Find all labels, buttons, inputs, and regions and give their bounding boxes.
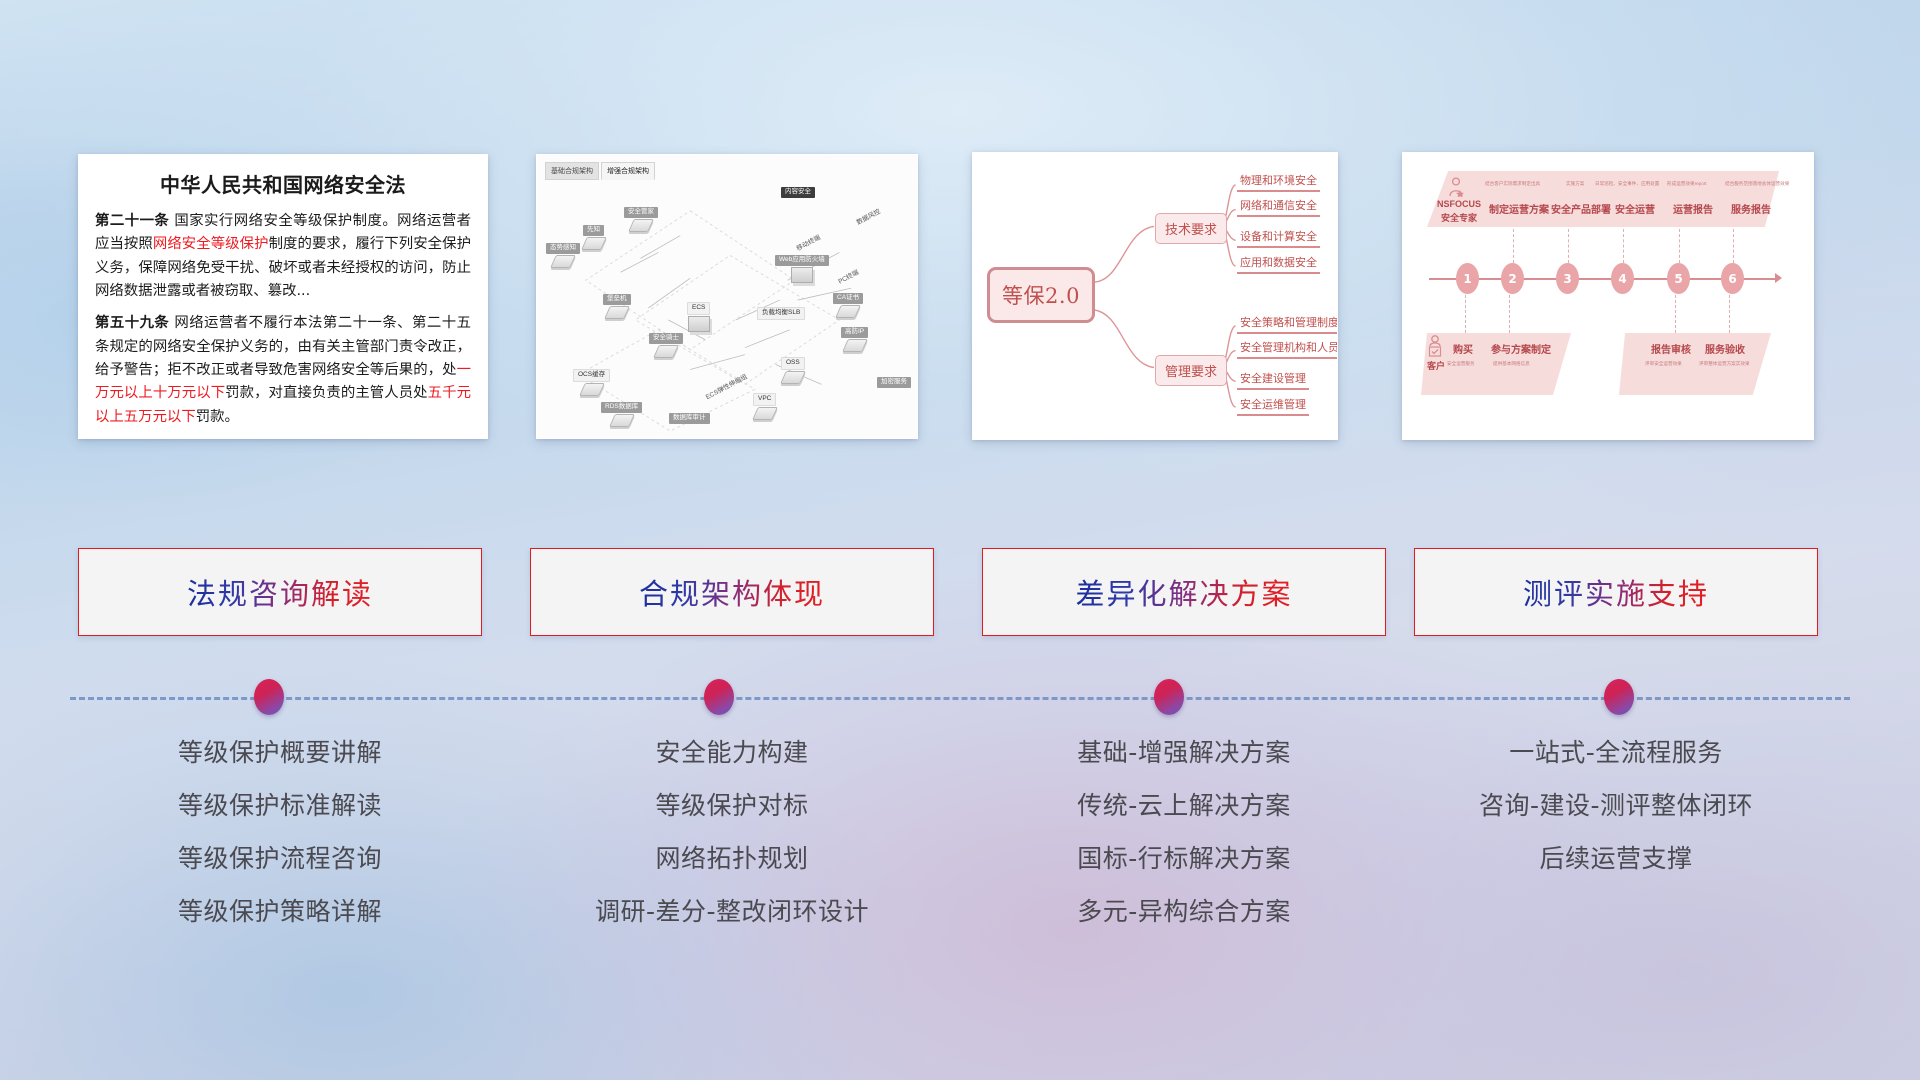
disk-icon [842, 339, 868, 352]
arch-node-label: OSS [781, 357, 805, 370]
arch-node-label: CA证书 [833, 293, 863, 304]
flow-top-sub: 实施方案 [1566, 181, 1584, 187]
list-item: 等级保护标准解读 [78, 793, 482, 818]
arch-node-ecs: ECS [687, 302, 710, 332]
flow-dash-connector [1623, 229, 1624, 263]
flow-top-sub: 形成运营效果report [1667, 181, 1707, 187]
mindmap-card: 等保2.0 技术要求 管理要求 物理和环境安全 网络和通信安全 设备和计算安全 … [972, 152, 1338, 440]
list-item: 基础-增强解决方案 [982, 740, 1386, 765]
article-21-label: 第二十一条 [95, 213, 169, 229]
article-21-highlight: 网络安全等级保护 [153, 236, 269, 252]
flow-top-title: 运营报告 [1673, 201, 1713, 216]
bullet-column-4: 一站式-全流程服务 咨询-建设-测评整体闭环 后续运营支撑 [1414, 740, 1818, 899]
section-header-2[interactable]: 合规架构体现 [530, 548, 934, 636]
arch-node-xianzhi: 先知 [583, 225, 604, 250]
flow-dash-connector [1509, 295, 1510, 333]
flow-step-number: 5 [1667, 263, 1690, 294]
disk-icon [835, 305, 861, 318]
flow-dash-connector [1568, 229, 1569, 263]
article-59-text-c: 罚款。 [196, 409, 239, 425]
section-header-3-label: 差异化解决方案 [1075, 571, 1292, 613]
list-item: 等级保护流程咨询 [78, 846, 482, 871]
flow-bottom-title: 参与方案制定 [1491, 341, 1551, 356]
arch-node-oss: OSS [781, 357, 805, 384]
arch-node-label: 堡垒机 [603, 294, 631, 305]
arch-node-rds-database: RDS数据库 [601, 402, 642, 427]
flow-step-number: 6 [1721, 263, 1744, 294]
arch-node-bastion-host: 堡垒机 [603, 294, 631, 319]
law-card-title: 中华人民共和国网络安全法 [95, 169, 471, 198]
disk-icon [752, 407, 778, 420]
mindmap-leaf: 安全策略和管理制度 [1237, 317, 1338, 334]
law-article-59: 第五十九条 网络运营者不履行本法第二十一条、第二十五条规定的网络安全保护义务的，… [95, 312, 471, 429]
arch-node-label: 加密服务 [877, 377, 911, 388]
list-item: 传统-云上解决方案 [982, 793, 1386, 818]
law-text-card: 中华人民共和国网络安全法 第二十一条 国家实行网络安全等级保护制度。网络运营者应… [78, 154, 488, 439]
arch-node-label: 负载均衡SLB [757, 307, 805, 320]
article-59-text-b: 罚款，对直接负责的主管人员处 [225, 385, 427, 401]
flow-dash-connector [1679, 229, 1680, 263]
timeline-dot-4 [1604, 679, 1634, 715]
disk-icon [581, 237, 607, 250]
section-header-1[interactable]: 法规咨询解读 [78, 548, 482, 636]
flow-axis-arrow-icon [1775, 273, 1782, 283]
arch-node-security-knight: 安全骑士 [649, 333, 683, 358]
server-icon [791, 267, 813, 283]
mindmap-leaf: 设备和计算安全 [1237, 231, 1320, 248]
list-item: 后续运营支撑 [1414, 846, 1818, 871]
flow-dash-connector [1729, 295, 1730, 333]
article-59-label: 第五十九条 [95, 315, 169, 331]
bullet-column-1: 等级保护概要讲解 等级保护标准解读 等级保护流程咨询 等级保护策略详解 [78, 740, 482, 952]
bullet-column-2: 安全能力构建 等级保护对标 网络拓扑规划 调研-差分-整改闭环设计 [530, 740, 934, 952]
list-item: 安全能力构建 [530, 740, 934, 765]
section-header-2-label: 合规架构体现 [639, 571, 825, 613]
flow-bottom-sub: 评审安全运营效果 [1645, 361, 1682, 367]
arch-node-label: VPC [753, 393, 776, 406]
arch-tab-enhanced[interactable]: 增强合规架构 [601, 162, 655, 180]
flow-bottom-title: 购买 [1453, 341, 1473, 356]
flow-step-number: 4 [1611, 263, 1634, 294]
flow-dash-connector [1465, 295, 1466, 333]
flow-canvas: NSFOCUS 安全专家 结合客户实际需求制定出具 制定运营方案 实施方案 安全… [1403, 153, 1813, 439]
flow-actor-top-line2: 安全专家 [1441, 211, 1477, 224]
flow-actor-top-line1: NSFOCUS [1437, 199, 1481, 209]
arch-tab-strip: 基础合规架构 增强合规架构 [545, 162, 655, 180]
section-header-1-label: 法规咨询解读 [187, 571, 373, 613]
arch-node-label: 内容安全 [781, 187, 815, 198]
arch-node-label: ECS [687, 302, 710, 315]
mindmap-leaf: 安全管理机构和人员 [1237, 342, 1338, 359]
timeline-dot-2 [704, 679, 734, 715]
timeline-dashed-line [70, 697, 1850, 700]
arch-node-label: 高防IP [841, 327, 868, 338]
arch-tab-basic[interactable]: 基础合规架构 [545, 162, 599, 180]
list-item: 一站式-全流程服务 [1414, 740, 1818, 765]
mindmap-leaf: 安全运维管理 [1237, 399, 1309, 416]
flow-top-sub: 结合客户实际需求制定出具 [1485, 181, 1540, 187]
flow-top-title: 安全产品部署 [1551, 201, 1611, 216]
section-header-4-label: 测评实施支持 [1523, 571, 1709, 613]
mindmap-leaf: 安全建设管理 [1237, 373, 1309, 390]
flow-bottom-title: 报告审核 [1651, 341, 1691, 356]
arch-node-security-butler: 安全管家 [624, 207, 658, 232]
flow-top-title: 制定运营方案 [1489, 201, 1549, 216]
flow-dash-connector [1733, 229, 1734, 263]
list-item: 等级保护对标 [530, 793, 934, 818]
law-article-21: 第二十一条 国家实行网络安全等级保护制度。网络运营者应当按照网络安全等级保护制度… [95, 210, 471, 303]
list-item: 等级保护策略详解 [78, 899, 482, 924]
flow-top-title: 安全运营 [1615, 201, 1655, 216]
server-icon [688, 316, 710, 332]
arch-node-waf: Web应用防火墙 [775, 255, 829, 283]
flow-dash-connector [1513, 229, 1514, 263]
arch-node-label: 态势感知 [546, 243, 580, 254]
flow-top-sub: 日常巡检、安全事件、应用处置 [1595, 181, 1659, 187]
mindmap-canvas: 等保2.0 技术要求 管理要求 物理和环境安全 网络和通信安全 设备和计算安全 … [973, 153, 1337, 439]
arch-node-label: OCS缓存 [573, 369, 610, 382]
architecture-diagram-card: 基础合规架构 增强合规架构 [536, 154, 918, 439]
bullet-column-3: 基础-增强解决方案 传统-云上解决方案 国标-行标解决方案 多元-异构综合方案 [982, 740, 1386, 952]
list-item: 国标-行标解决方案 [982, 846, 1386, 871]
disk-icon [653, 345, 679, 358]
flow-step-number: 3 [1556, 263, 1579, 294]
service-flow-card: NSFOCUS 安全专家 结合客户实际需求制定出具 制定运营方案 实施方案 安全… [1402, 152, 1814, 440]
flow-actor-bottom: 客户 [1427, 359, 1445, 372]
mindmap-leaf: 物理和环境安全 [1237, 175, 1320, 192]
mindmap-root-node: 等保2.0 [987, 267, 1095, 323]
flow-bottom-sub: 安全运营服务 [1447, 361, 1475, 367]
flow-bottom-sub: 提供基本网络信息 [1493, 361, 1530, 367]
section-header-3[interactable]: 差异化解决方案 [982, 548, 1386, 636]
flow-bottom-sub: 评审整体运营方案实效果 [1699, 361, 1750, 367]
list-item: 调研-差分-整改闭环设计 [530, 899, 934, 924]
list-item: 咨询-建设-测评整体闭环 [1414, 793, 1818, 818]
disk-icon [609, 414, 635, 427]
list-item: 网络拓扑规划 [530, 846, 934, 871]
mindmap-branch-management: 管理要求 [1155, 355, 1227, 386]
arch-node-label: 安全骑士 [649, 333, 683, 344]
arch-node-vpc: VPC [753, 393, 776, 420]
disk-icon [579, 383, 605, 396]
arch-node-label: 先知 [583, 225, 604, 236]
mindmap-branch-technical: 技术要求 [1155, 213, 1227, 244]
slide-canvas: 中华人民共和国网络安全法 第二十一条 国家实行网络安全等级保护制度。网络运营者应… [0, 0, 1920, 1080]
timeline-dot-1 [254, 679, 284, 715]
arch-node-db-audit: 数据库审计 [669, 413, 710, 424]
disk-icon [780, 371, 806, 384]
flow-bottom-title: 服务验收 [1705, 341, 1745, 356]
mindmap-leaf: 网络和通信安全 [1237, 200, 1320, 217]
disk-icon [628, 219, 654, 232]
arch-node-ocs-cache: OCS缓存 [573, 369, 610, 396]
arch-node-content-security: 内容安全 [781, 187, 815, 198]
arch-node-anti-ddos-ip: 高防IP [841, 327, 868, 352]
arch-node-slb: 负载均衡SLB [757, 307, 805, 320]
flow-top-title: 服务报告 [1731, 201, 1771, 216]
expert-avatar-icon [1447, 177, 1465, 197]
flow-step-number: 2 [1501, 263, 1524, 294]
arch-node-label: 安全管家 [624, 207, 658, 218]
disk-icon [604, 306, 630, 319]
arch-node-label: RDS数据库 [601, 402, 642, 413]
flow-step-number: 1 [1456, 263, 1479, 294]
arch-node-ca-cert: CA证书 [833, 293, 863, 318]
arch-node-situational-awareness: 态势感知 [546, 243, 580, 268]
list-item: 多元-异构综合方案 [982, 899, 1386, 924]
disk-icon [550, 255, 576, 268]
flow-top-sub: 结合服务范围落地总体运营效果 [1725, 181, 1789, 187]
arch-node-encryption-service: 加密服务 [877, 377, 911, 388]
flow-dash-connector [1675, 295, 1676, 333]
section-header-4[interactable]: 测评实施支持 [1414, 548, 1818, 636]
customer-avatar-icon [1427, 335, 1443, 357]
arch-canvas: 态势感知 先知 安全管家 堡垒机 安全骑士 OCS缓存 RDS数据库 ECS [541, 181, 913, 434]
arch-node-label: 数据库审计 [669, 413, 710, 424]
list-item: 等级保护概要讲解 [78, 740, 482, 765]
timeline-dot-3 [1154, 679, 1184, 715]
mindmap-leaf: 应用和数据安全 [1237, 257, 1320, 274]
arch-node-label: Web应用防火墙 [775, 255, 829, 266]
